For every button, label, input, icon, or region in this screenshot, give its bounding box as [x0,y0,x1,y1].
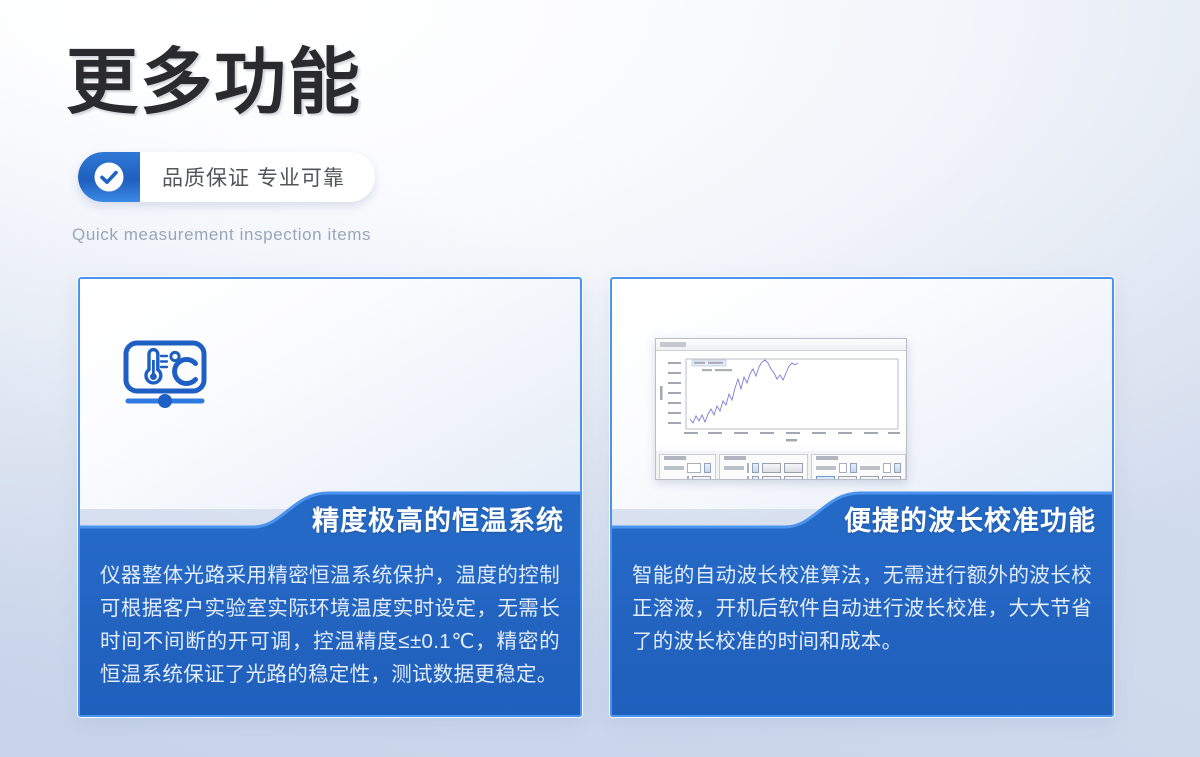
panel-measure[interactable] [659,454,716,480]
panel-calibration[interactable] [811,454,906,480]
panel-gas-flow[interactable] [719,454,808,480]
software-window-trend[interactable] [655,338,907,480]
feature-card-wavelength: 便捷的波长校准功能 智能的自动波长校准算法，无需进行额外的波长校正溶液，开机后软… [610,277,1114,717]
trend-chart [656,351,904,446]
window-titlebar-trend [656,339,906,351]
control-panels[interactable] [656,451,906,480]
card-body-right: 智能的自动波长校准算法，无需进行额外的波长校正溶液，开机后软件自动进行波长校准，… [610,539,1114,717]
quality-badge-label: 品质保证 专业可靠 [140,152,375,202]
temperature-control-icon [122,339,208,411]
page-title: 更多功能 [66,47,362,119]
card-body-left: 仪器整体光路采用精密恒温系统保护，温度的控制可根据客户实验室实际环境温度实时设定… [78,539,582,717]
page-subtitle: Quick measurement inspection items [72,225,371,245]
card-media-right [610,277,1114,509]
check-circle-icon [78,152,140,202]
feature-card-thermostat: 精度极高的恒温系统 仪器整体光路采用精密恒温系统保护，温度的控制可根据客户实验室… [78,277,582,717]
quality-badge: 品质保证 专业可靠 [78,152,375,202]
card-body-right-text: 智能的自动波长校准算法，无需进行额外的波长校正溶液，开机后软件自动进行波长校准，… [632,559,1092,658]
card-body-left-text: 仪器整体光路采用精密恒温系统保护，温度的控制可根据客户实验室实际环境温度实时设定… [100,559,560,691]
card-media-left [78,277,582,509]
